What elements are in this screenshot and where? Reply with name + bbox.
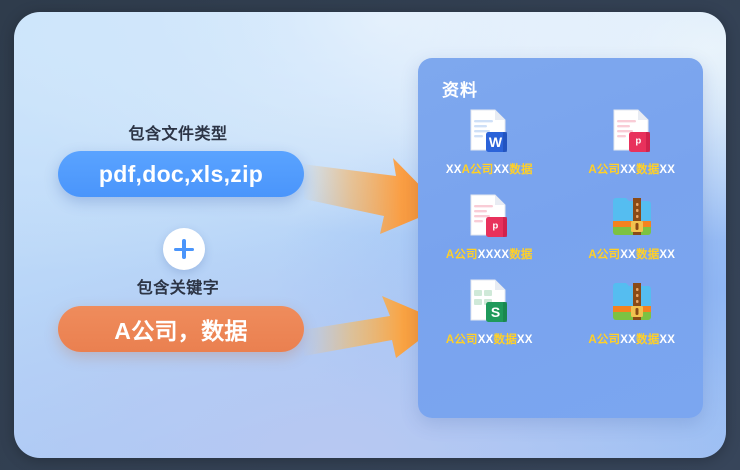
pdf-file-icon: ᵖ [610,108,654,154]
excel-file-icon: S [467,278,511,324]
file-name: XXA公司XX数据 [446,161,533,177]
file-name: A公司XX数据XX [446,331,533,347]
file-grid: W XXA公司XX数据 ᵖ A公司XX数据XX ᵖ A公司XXXX数据 [418,108,703,347]
svg-text:S: S [491,304,500,320]
file-item[interactable]: A公司XX数据XX [561,193,704,262]
keyword-value-pill[interactable]: A公司，数据 [58,306,304,352]
filetype-value-pill[interactable]: pdf,doc,xls,zip [58,151,304,197]
pdf-file-icon: ᵖ [467,193,511,239]
results-panel-title: 资料 [442,76,478,101]
file-name: A公司XX数据XX [588,161,675,177]
file-name: A公司XXXX数据 [446,246,533,262]
illustration-card: 包含文件类型 pdf,doc,xls,zip 包含关键字 A公司，数据 [14,12,726,458]
archive-file-icon [610,193,654,239]
screenshot-root: 包含文件类型 pdf,doc,xls,zip 包含关键字 A公司，数据 [0,0,740,470]
svg-text:ᵖ: ᵖ [493,219,499,235]
results-panel: 资料 W XXA公司XX数据 ᵖ A公司XX数据XX [418,58,703,418]
plus-icon [163,228,205,270]
file-name: A公司XX数据XX [588,246,675,262]
file-item[interactable]: A公司XX数据XX [561,278,704,347]
file-item[interactable]: ᵖ A公司XXXX数据 [418,193,561,262]
word-file-icon: W [467,108,511,154]
keyword-caption: 包含关键字 [38,274,318,298]
file-item[interactable]: W XXA公司XX数据 [418,108,561,177]
file-item[interactable]: ᵖ A公司XX数据XX [561,108,704,177]
file-item[interactable]: S A公司XX数据XX [418,278,561,347]
file-name: A公司XX数据XX [588,331,675,347]
filetype-caption: 包含文件类型 [38,120,318,144]
archive-file-icon [610,278,654,324]
svg-text:W: W [489,134,503,150]
svg-text:ᵖ: ᵖ [636,134,642,150]
